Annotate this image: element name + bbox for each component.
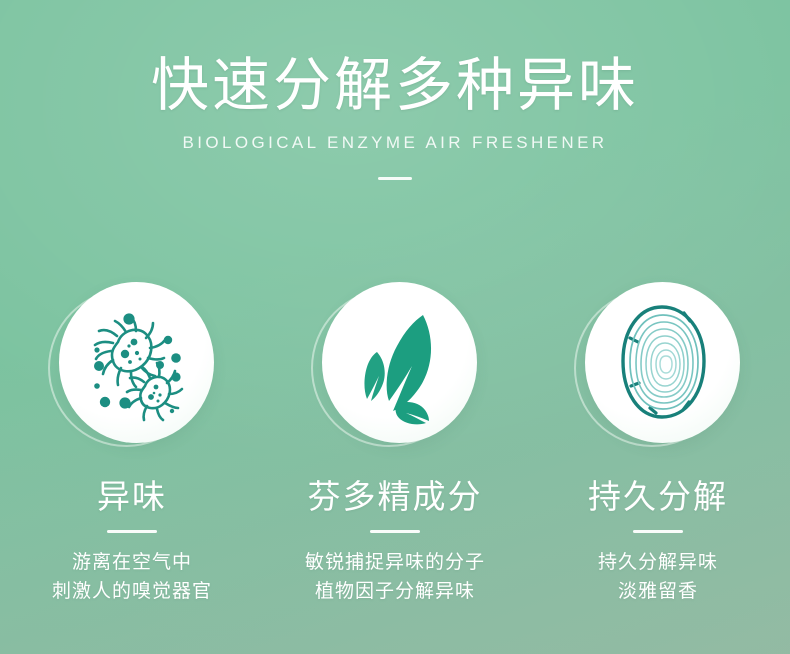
feature-icon-wrapper: [48, 282, 216, 454]
feature-icon-disc: [322, 282, 477, 443]
feature-description-line-2: 植物因子分解异味: [305, 578, 485, 607]
feature-icon-wrapper: [311, 282, 479, 454]
feature-description: 持久分解异味 淡雅留香: [598, 549, 718, 606]
feature-title: 持久分解: [588, 480, 728, 513]
feature-item-odor: 异味 游离在空气中 刺激人的嗅觉器官: [1, 282, 264, 606]
feature-title: 异味: [97, 480, 167, 513]
feature-divider: [107, 530, 157, 533]
page-subtitle: BIOLOGICAL ENZYME AIR FRESHENER: [0, 133, 790, 153]
leaf-main: [386, 315, 430, 411]
leaf-left: [364, 352, 384, 401]
feature-item-phytoncide: 芬多精成分 敏锐捕捉异味的分子 植物因子分解异味: [264, 282, 527, 606]
product-promo-poster: 快速分解多种异味 BIOLOGICAL ENZYME AIR FRESHENER: [0, 0, 790, 654]
feature-description-line-1: 持久分解异味: [598, 549, 718, 578]
feature-icon-disc: [59, 282, 214, 443]
feature-icon-disc: [585, 282, 740, 443]
bacteria-icon: [72, 298, 202, 428]
feature-list: 异味 游离在空气中 刺激人的嗅觉器官: [0, 282, 790, 606]
feature-description-line-2: 刺激人的嗅觉器官: [52, 578, 212, 607]
page-title: 快速分解多种异味: [0, 56, 790, 117]
feature-description: 敏锐捕捉异味的分子 植物因子分解异味: [305, 549, 485, 606]
feature-item-longlasting: 持久分解 持久分解异味 淡雅留香: [527, 282, 790, 606]
feature-icon-wrapper: [574, 282, 742, 454]
feature-description-line-2: 淡雅留香: [598, 578, 718, 607]
feature-divider: [633, 530, 683, 533]
feature-description-line-1: 敏锐捕捉异味的分子: [305, 549, 485, 578]
tree-rings-icon: [598, 298, 728, 428]
leaf-bottom: [395, 402, 429, 424]
leaf-icon: [335, 298, 465, 428]
feature-divider: [370, 530, 420, 533]
feature-title: 芬多精成分: [308, 480, 483, 513]
feature-description: 游离在空气中 刺激人的嗅觉器官: [52, 549, 212, 606]
header-divider: [378, 177, 412, 180]
poster-header: 快速分解多种异味 BIOLOGICAL ENZYME AIR FRESHENER: [0, 56, 790, 180]
feature-description-line-1: 游离在空气中: [52, 549, 212, 578]
